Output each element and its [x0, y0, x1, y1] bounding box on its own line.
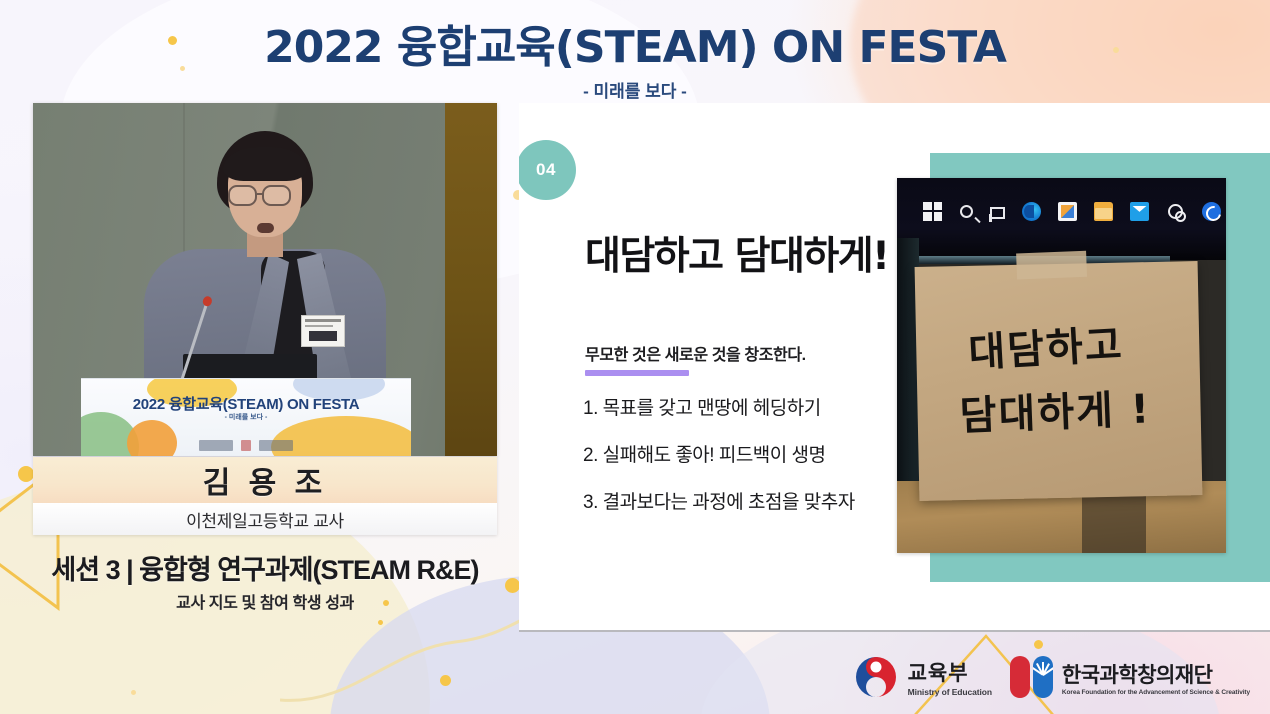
speaker-glasses-left — [228, 185, 257, 206]
cortana-icon — [1202, 202, 1221, 221]
event-subtitle: - 미래를 보다 - — [583, 77, 687, 102]
file-explorer-icon — [1094, 202, 1113, 221]
slide-lead-underline — [585, 370, 689, 376]
moe-logo: 교육부 Ministry of Education — [853, 654, 992, 700]
kofac-name: 한국과학창의재단 — [1062, 659, 1250, 689]
speaker-affiliation-bar: 이천제일고등학교 교사 — [33, 503, 497, 535]
podium-logo-row — [81, 440, 411, 451]
slide-number-text: 04 — [536, 160, 556, 180]
photo-kraft-paper-note: 대담하고 담대하게 ! — [915, 261, 1203, 501]
photo-handwriting-line-1: 대담하고 — [967, 312, 1125, 379]
decor-dot — [378, 620, 383, 625]
podium-logo-moe-icon — [199, 440, 233, 451]
speaker-video[interactable]: 2022 융합교육(STEAM) ON FESTA - 미래를 보다 - — [33, 103, 497, 456]
taegeuk-icon — [853, 654, 899, 700]
photo-handwriting-line-2: 담대하게 ! — [959, 376, 1152, 441]
photo-monitor-bezel — [897, 178, 1226, 260]
slide-photo: 대담하고 담대하게 ! — [897, 178, 1226, 553]
list-item: 1. 목표를 갖고 맨땅에 헤딩하기 — [583, 393, 855, 420]
photo-tape — [1016, 251, 1087, 280]
session-title: 세션 3 | 융합형 연구과제(STEAM R&E) — [33, 548, 497, 587]
speaker-name-bar: 김 용 조 — [33, 457, 497, 503]
moe-name-en: Ministry of Education — [908, 687, 992, 697]
event-header: 2022 융합교육(STEAM) ON FESTA - 미래를 보다 - — [0, 0, 1270, 100]
speaker-name-badge — [301, 315, 345, 347]
settings-gear-icon — [1168, 204, 1183, 219]
podium-logo-kofac-red-icon — [241, 440, 251, 451]
speaker-name-card: 김 용 조 이천제일고등학교 교사 — [33, 457, 497, 535]
moe-name: 교육부 — [908, 657, 992, 687]
speaker-hair-front — [223, 147, 307, 181]
edge-browser-icon — [1022, 202, 1041, 221]
decor-dot — [131, 690, 136, 695]
list-item: 3. 결과보다는 과정에 초점을 맞추자 — [583, 487, 855, 514]
event-title: 2022 융합교육(STEAM) ON FESTA — [264, 11, 1006, 75]
mail-icon — [1130, 202, 1149, 221]
speaker-affiliation: 이천제일고등학교 교사 — [186, 507, 344, 532]
podium-logo-kofac-icon — [259, 440, 293, 451]
photo-windows-taskbar — [923, 198, 1218, 224]
wall-wood-panel — [445, 103, 497, 456]
slide-lead-text: 무모한 것은 새로운 것을 창조한다. — [585, 341, 806, 365]
microsoft-store-icon — [1058, 202, 1077, 221]
podium-banner-subtitle: - 미래를 보다 - — [81, 412, 411, 422]
decor-dot — [505, 578, 520, 593]
slide-number-badge: 04 — [519, 140, 576, 200]
photo-monitor-stand — [1082, 489, 1146, 553]
presentation-slide[interactable]: 04 대담하고 담대하게! 무모한 것은 새로운 것을 창조한다. 1. 목표를… — [519, 103, 1270, 632]
slide-bullet-list: 1. 목표를 갖고 맨땅에 헤딩하기 2. 실패해도 좋아! 피드백이 생명 3… — [583, 393, 855, 534]
decor-dot — [1034, 640, 1043, 649]
windows-start-icon — [923, 202, 942, 221]
podium-banner: 2022 융합교육(STEAM) ON FESTA - 미래를 보다 - — [81, 378, 411, 456]
session-subtitle: 교사 지도 및 참여 학생 성과 — [33, 589, 497, 613]
footer-logos: 교육부 Ministry of Education 한국과학창의재단 Korea… — [853, 654, 1250, 700]
list-item: 2. 실패해도 좋아! 피드백이 생명 — [583, 440, 855, 467]
kofac-mark-icon — [1010, 656, 1053, 698]
decor-dot — [18, 466, 34, 482]
speaker-glasses-right — [262, 185, 291, 206]
speaker-mouth — [257, 223, 274, 233]
session-title-block: 세션 3 | 융합형 연구과제(STEAM R&E) 교사 지도 및 참여 학생… — [33, 548, 497, 613]
kofac-logo: 한국과학창의재단 Korea Foundation for the Advanc… — [1010, 656, 1250, 698]
kofac-name-en: Korea Foundation for the Advancement of … — [1062, 689, 1250, 696]
search-icon — [960, 205, 973, 218]
speaker-name: 김 용 조 — [203, 458, 327, 502]
speaker-glasses-bridge — [257, 193, 264, 195]
slide-heading: 대담하고 담대하게! — [585, 225, 888, 281]
task-view-icon — [990, 207, 1005, 219]
decor-dot — [440, 675, 451, 686]
podium-banner-title: 2022 융합교육(STEAM) ON FESTA — [81, 393, 411, 414]
